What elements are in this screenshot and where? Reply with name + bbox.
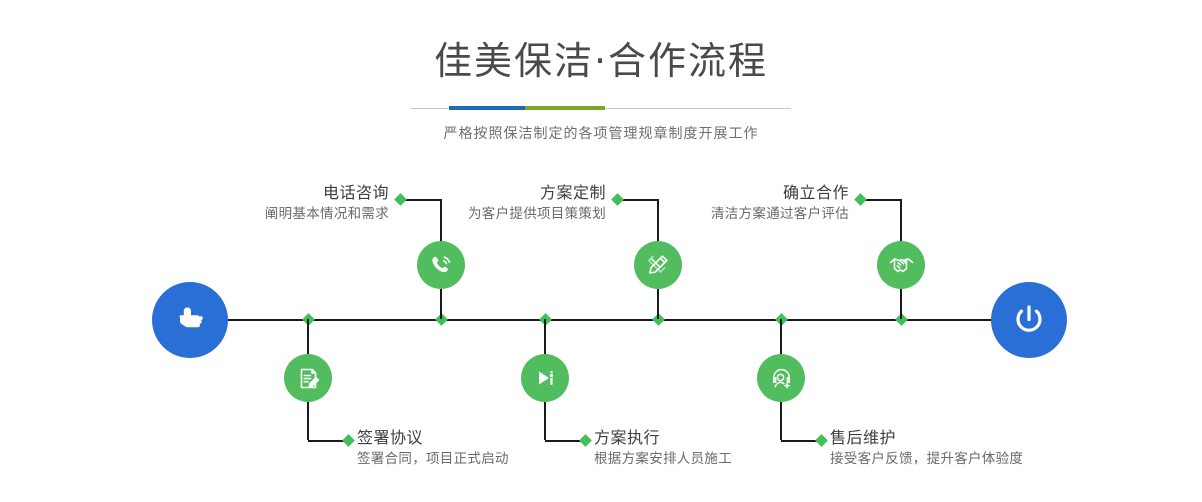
step-stem-2 — [307, 319, 309, 354]
step-icon-bubble-1[interactable] — [417, 241, 465, 289]
step-label-4: 方案执行 根据方案安排人员施工 — [594, 427, 732, 469]
title-divider — [411, 106, 791, 110]
step-icon-bubble-2[interactable] — [284, 354, 332, 402]
step-leader-marker-1 — [394, 193, 407, 206]
step-icon-bubble-5[interactable] — [877, 241, 925, 289]
power-icon — [1008, 299, 1050, 341]
step-leader-marker-4 — [579, 434, 592, 447]
step-icon-bubble-6[interactable] — [757, 354, 805, 402]
timeline-end-node[interactable] — [991, 282, 1067, 358]
divider-segment-blue — [449, 106, 525, 110]
page-title: 佳美保洁·合作流程 — [0, 42, 1202, 80]
play-execute-icon — [531, 364, 559, 392]
step-label-3: 方案定制 为客户提供项目策策划 — [468, 182, 606, 224]
step-stem-1 — [440, 289, 442, 319]
step-icon-bubble-3[interactable] — [634, 241, 682, 289]
step-stem-3 — [657, 289, 659, 319]
step-leader-marker-3 — [611, 193, 624, 206]
divider-segment-green — [525, 106, 605, 110]
step-label-2: 签署协议 签署合同，项目正式启动 — [357, 427, 509, 469]
customer-service-icon — [768, 365, 795, 392]
page-subtitle: 严格按照保洁制定的各项管理规章制度开展工作 — [0, 123, 1202, 143]
step-leader-vertical-3 — [657, 199, 659, 241]
handshake-icon — [887, 251, 916, 280]
step-icon-bubble-4[interactable] — [521, 354, 569, 402]
step-stem-5 — [900, 289, 902, 319]
step-leader-marker-5 — [854, 193, 867, 206]
pencil-ruler-icon — [644, 251, 672, 279]
step-leader-marker-6 — [815, 434, 828, 447]
step-label-6: 售后维护 接受客户反馈，提升客户体验度 — [830, 427, 1023, 469]
step-stem-6 — [780, 319, 782, 354]
step-label-5: 确立合作 清洁方案通过客户评估 — [711, 182, 849, 224]
phone-call-icon — [427, 251, 455, 279]
step-leader-vertical-1 — [440, 199, 442, 241]
document-edit-icon — [295, 365, 322, 392]
step-leader-vertical-4 — [544, 402, 546, 440]
step-leader-vertical-2 — [307, 402, 309, 440]
timeline-start-node[interactable] — [152, 282, 228, 358]
step-leader-vertical-6 — [780, 402, 782, 440]
page-header: 佳美保洁·合作流程 严格按照保洁制定的各项管理规章制度开展工作 — [0, 0, 1202, 143]
step-stem-4 — [544, 319, 546, 354]
step-leader-vertical-5 — [900, 199, 902, 241]
flow-diagram-page: 佳美保洁·合作流程 严格按照保洁制定的各项管理规章制度开展工作 — [0, 0, 1202, 502]
step-label-1: 电话咨询 阐明基本情况和需求 — [265, 182, 389, 224]
pointing-hand-icon — [170, 300, 210, 340]
step-leader-marker-2 — [342, 434, 355, 447]
